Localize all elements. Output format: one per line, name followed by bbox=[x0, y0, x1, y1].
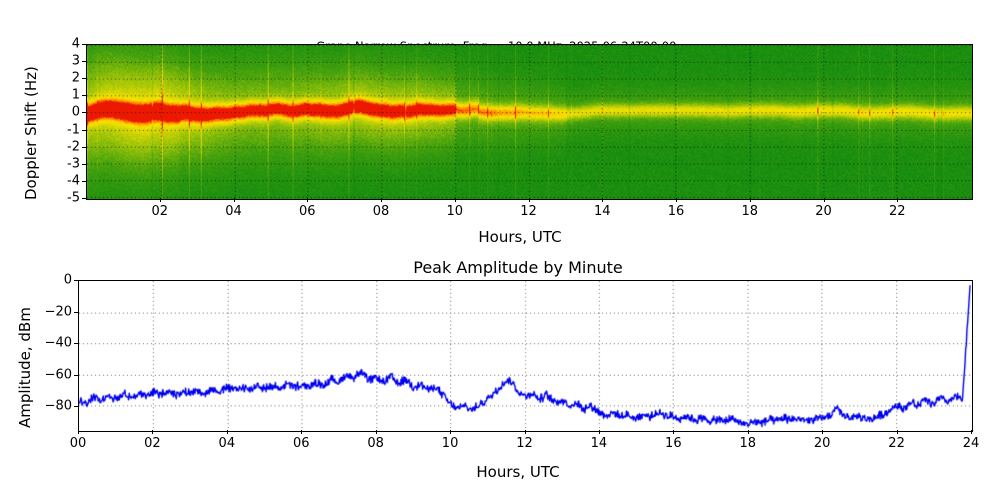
spectrogram-xtick-label: 04 bbox=[225, 204, 242, 219]
amplitude-xtick bbox=[525, 430, 526, 434]
spectrogram-xtick-label: 20 bbox=[815, 204, 832, 219]
amplitude-xtick bbox=[748, 430, 749, 434]
amplitude-chart-title: Peak Amplitude by Minute bbox=[18, 258, 1000, 277]
amplitude-xtick-label: 10 bbox=[442, 436, 459, 451]
spectrogram-xtick bbox=[897, 198, 898, 202]
spectrogram-ytick-label: -5 bbox=[52, 191, 80, 206]
spectrogram-ytick bbox=[82, 112, 86, 113]
amplitude-ytick bbox=[74, 375, 78, 376]
amplitude-xtick-label: 16 bbox=[665, 436, 682, 451]
amplitude-line-plot bbox=[79, 281, 972, 431]
amplitude-ytick bbox=[74, 343, 78, 344]
spectrogram-xtick bbox=[307, 198, 308, 202]
amplitude-xtick-label: 08 bbox=[367, 436, 384, 451]
amplitude-xtick-label: 20 bbox=[814, 436, 831, 451]
amplitude-axes bbox=[78, 280, 973, 432]
spectrogram-xtick bbox=[824, 198, 825, 202]
amplitude-xtick bbox=[971, 430, 972, 434]
spectrogram-ytick bbox=[82, 181, 86, 182]
amplitude-ytick-label: −20 bbox=[34, 304, 72, 319]
amplitude-xtick bbox=[450, 430, 451, 434]
spectrogram-ytick bbox=[82, 147, 86, 148]
amplitude-xtick-label: 18 bbox=[739, 436, 756, 451]
spectrogram-ytick-label: 1 bbox=[52, 88, 80, 103]
spectrogram-xtick bbox=[160, 198, 161, 202]
spectrogram-xtick-label: 12 bbox=[520, 204, 537, 219]
spectrogram-ytick bbox=[82, 198, 86, 199]
spectrogram-ytick-label: -4 bbox=[52, 173, 80, 188]
amplitude-ytick bbox=[74, 280, 78, 281]
spectrogram-xtick-label: 18 bbox=[741, 204, 758, 219]
spectrogram-ylabel: Doppler Shift (Hz) bbox=[22, 66, 40, 200]
spectrogram-xtick-label: 16 bbox=[668, 204, 685, 219]
amplitude-xtick-label: 06 bbox=[293, 436, 310, 451]
spectrogram-xtick bbox=[455, 198, 456, 202]
amplitude-xtick bbox=[599, 430, 600, 434]
spectrogram-xtick bbox=[676, 198, 677, 202]
amplitude-xtick bbox=[376, 430, 377, 434]
amplitude-xtick bbox=[897, 430, 898, 434]
figure-canvas: Grape Narrow Spectrum, Freq. = 10.0 MHz,… bbox=[0, 0, 1000, 500]
amplitude-ytick bbox=[74, 406, 78, 407]
spectrogram-ytick-label: 3 bbox=[52, 54, 80, 69]
amplitude-xtick-label: 00 bbox=[70, 436, 87, 451]
amplitude-xtick-label: 12 bbox=[516, 436, 533, 451]
spectrogram-xtick bbox=[529, 198, 530, 202]
amplitude-ytick-label: −40 bbox=[34, 336, 72, 351]
amplitude-xtick bbox=[78, 430, 79, 434]
amplitude-xtick bbox=[822, 430, 823, 434]
spectrogram-image bbox=[87, 45, 972, 199]
amplitude-xtick-label: 22 bbox=[888, 436, 905, 451]
amplitude-xtick bbox=[227, 430, 228, 434]
amplitude-xtick bbox=[673, 430, 674, 434]
amplitude-ytick-label: 0 bbox=[34, 273, 72, 288]
amplitude-xtick-label: 02 bbox=[144, 436, 161, 451]
spectrogram-xtick-label: 06 bbox=[299, 204, 316, 219]
spectrogram-ytick-label: -1 bbox=[52, 122, 80, 137]
spectrogram-xtick bbox=[602, 198, 603, 202]
amplitude-xtick-label: 04 bbox=[219, 436, 236, 451]
spectrogram-ytick-label: 0 bbox=[52, 105, 80, 120]
spectrogram-ytick bbox=[82, 61, 86, 62]
amplitude-xtick-label: 24 bbox=[963, 436, 980, 451]
amplitude-xtick bbox=[301, 430, 302, 434]
spectrogram-xtick bbox=[750, 198, 751, 202]
spectrogram-ytick bbox=[82, 95, 86, 96]
spectrogram-xtick bbox=[381, 198, 382, 202]
spectrogram-ytick bbox=[82, 130, 86, 131]
amplitude-ylabel: Amplitude, dBm bbox=[16, 307, 34, 428]
spectrogram-xtick-label: 10 bbox=[446, 204, 463, 219]
spectrogram-xtick-label: 14 bbox=[594, 204, 611, 219]
spectrogram-axes bbox=[86, 44, 973, 200]
spectrogram-ytick bbox=[82, 164, 86, 165]
spectrogram-ytick-label: -2 bbox=[52, 139, 80, 154]
amplitude-xlabel: Hours, UTC bbox=[18, 463, 1000, 481]
amplitude-xtick-label: 14 bbox=[591, 436, 608, 451]
amplitude-ytick-label: −60 bbox=[34, 367, 72, 382]
amplitude-xtick bbox=[152, 430, 153, 434]
amplitude-ytick-label: −80 bbox=[34, 399, 72, 414]
spectrogram-xtick-label: 08 bbox=[373, 204, 390, 219]
spectrogram-ytick bbox=[82, 44, 86, 45]
spectrogram-xtick bbox=[234, 198, 235, 202]
spectrogram-ytick-label: 4 bbox=[52, 37, 80, 52]
spectrogram-xtick-label: 02 bbox=[151, 204, 168, 219]
amplitude-ytick bbox=[74, 312, 78, 313]
spectrogram-ytick-label: -3 bbox=[52, 156, 80, 171]
spectrogram-ytick bbox=[82, 78, 86, 79]
spectrogram-ytick-label: 2 bbox=[52, 71, 80, 86]
spectrogram-xlabel: Hours, UTC bbox=[20, 228, 1000, 246]
spectrogram-xtick-label: 22 bbox=[889, 204, 906, 219]
